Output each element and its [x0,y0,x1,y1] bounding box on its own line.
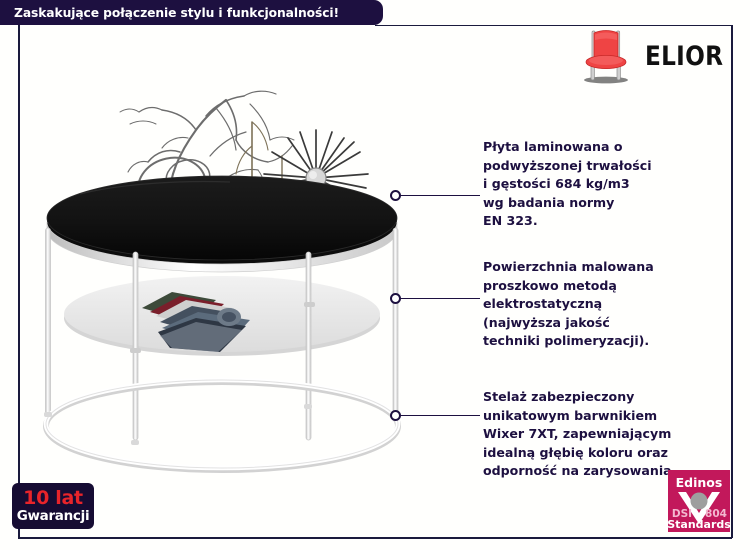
feature-line: elektrostatyczną [483,295,713,314]
feature-line: (najwyższa jakość [483,314,713,333]
banner-title: Zaskakujące połączenie stylu i funkcjona… [14,6,339,20]
brand-name: ELIOR [645,41,723,72]
feature-text-powder-coating: Powierzchnia malowana proszkowo metodą e… [483,258,713,351]
feature-line: Powierzchnia malowana [483,258,713,277]
feature-text-frame-dye: Stelaż zabezpieczony unikatowym barwniki… [483,388,713,481]
warranty-years: 10 lat [23,489,83,508]
feature-text-laminate: Płyta laminowana o podwyższonej trwałośc… [483,138,713,231]
callout-leader-3 [400,415,480,416]
feature-line: techniki polimeryzacji). [483,332,713,351]
feature-line: i gęstości 684 kg/m3 [483,175,713,194]
cert-brand-text: Edinos [676,475,723,490]
infographic-page: Zaskakujące połączenie stylu i funkcjona… [0,0,750,550]
header-banner: Zaskakujące połączenie stylu i funkcjona… [0,0,383,25]
warranty-label: Gwarancji [17,510,90,524]
feature-line: Wixer 7XT, zapewniającym [483,425,713,444]
warranty-badge: 10 lat Gwarancji [12,483,94,529]
feature-line: proszkowo metodą [483,277,713,296]
callout-leader-2 [400,298,480,299]
callout-marker-1 [390,190,401,201]
frame-bottom-line [18,537,732,539]
callout-marker-3 [390,410,401,421]
callout-leader-1 [400,195,480,196]
frame-right-line [731,25,733,538]
feature-line: wg badania normy [483,194,713,213]
feature-line: Stelaż zabezpieczony [483,388,713,407]
feature-line: idealną głębię koloru oraz [483,444,713,463]
feature-line: Płyta laminowana o [483,138,713,157]
callout-marker-2 [390,293,401,304]
feature-line: podwyższonej trwałości [483,157,713,176]
feature-line: unikatowym barwnikiem [483,407,713,426]
cert-standards-text: Standards [668,518,730,531]
base-ring-joints [44,404,312,445]
product-image-round-coffee-table [20,60,440,480]
certification-badge-edinos: Edinos DSI 804 Standards [668,470,730,532]
feature-line: EN 323. [483,212,713,231]
table-base-ring [46,380,398,470]
red-chair-icon [575,27,637,85]
brand-logo: ELIOR [575,25,725,87]
